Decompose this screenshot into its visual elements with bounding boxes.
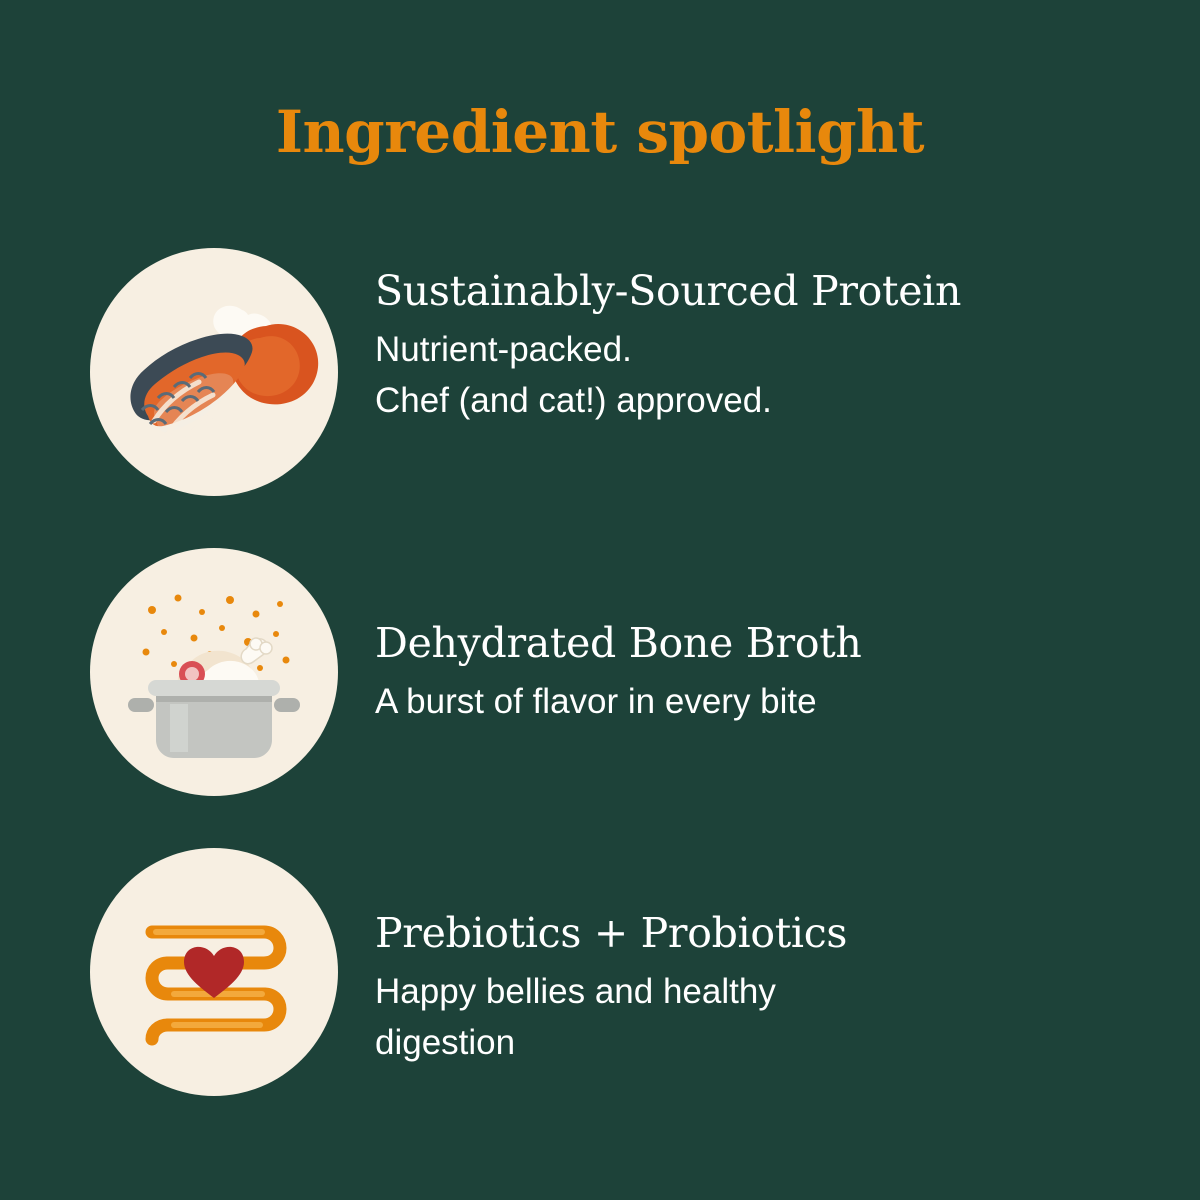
list-item: Dehydrated Bone Broth A burst of flavor … — [90, 548, 1130, 828]
item-description-line: Chef (and cat!) approved. — [375, 376, 1115, 427]
salmon-and-chicken-icon — [90, 248, 338, 496]
ingredient-spotlight-page: Ingredient spotlight — [0, 0, 1200, 1200]
item-description-line: Happy bellies and healthy — [375, 967, 1115, 1018]
gut-heart-icon — [90, 848, 338, 1096]
list-item: Sustainably-Sourced Protein Nutrient-pac… — [90, 248, 1130, 528]
list-item: Prebiotics + Probiotics Happy bellies an… — [90, 848, 1130, 1128]
item-title: Dehydrated Bone Broth — [375, 620, 1115, 667]
item-description: Nutrient-packed. Chef (and cat!) approve… — [375, 325, 1115, 427]
item-description: A burst of flavor in every bite — [375, 677, 1115, 728]
item-description-line: digestion — [375, 1018, 1115, 1069]
item-title: Sustainably-Sourced Protein — [375, 268, 1115, 315]
ingredient-list: Sustainably-Sourced Protein Nutrient-pac… — [90, 248, 1130, 1148]
item-description-line: A burst of flavor in every bite — [375, 677, 1115, 728]
page-title: Ingredient spotlight — [0, 98, 1200, 166]
item-description-line: Nutrient-packed. — [375, 325, 1115, 376]
item-description: Happy bellies and healthy digestion — [375, 967, 1115, 1069]
item-text-block: Prebiotics + Probiotics Happy bellies an… — [375, 910, 1115, 1069]
item-text-block: Sustainably-Sourced Protein Nutrient-pac… — [375, 268, 1115, 427]
item-text-block: Dehydrated Bone Broth A burst of flavor … — [375, 620, 1115, 728]
stock-pot-bone-broth-icon — [90, 548, 338, 796]
item-title: Prebiotics + Probiotics — [375, 910, 1115, 957]
